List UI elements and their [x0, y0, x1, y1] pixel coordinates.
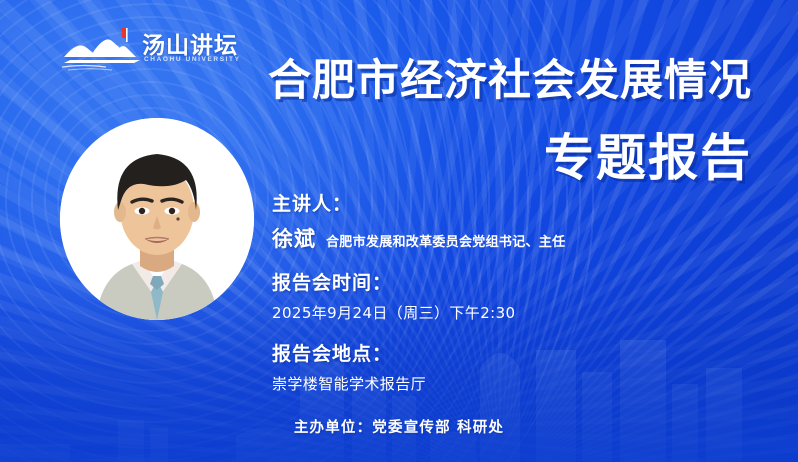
place-label: 报告会地点： — [272, 339, 742, 366]
time-label: 报告会时间： — [272, 268, 742, 295]
speaker-job-title: 合肥市发展和改革委员会党组书记、主任 — [326, 231, 565, 250]
speaker-portrait — [60, 118, 254, 320]
speaker-name: 徐斌 — [272, 223, 316, 253]
brand-logo: 汤山讲坛 CHAOHU UNIVERSITY — [60, 22, 235, 74]
poster-canvas: 汤山讲坛 CHAOHU UNIVERSITY — [0, 0, 798, 462]
speaker-label: 主讲人： — [272, 189, 742, 216]
speaker-row: 徐斌 合肥市发展和改革委员会党组书记、主任 — [272, 223, 742, 253]
place-value: 崇学楼智能学术报告厅 — [272, 373, 742, 394]
speaker-portrait-image — [60, 118, 254, 320]
logo-english-name: CHAOHU UNIVERSITY — [144, 56, 241, 63]
poster-title-line-1: 合肥市经济社会发展情况 — [268, 58, 752, 104]
event-info-block: 主讲人： 徐斌 合肥市发展和改革委员会党组书记、主任 报告会时间： 2025年9… — [272, 189, 742, 410]
poster-title-line-2: 专题报告 — [544, 131, 752, 185]
mountain-water-icon — [60, 24, 148, 72]
time-value: 2025年9月24日（周三）下午2:30 — [272, 302, 742, 323]
organizer-line: 主办单位：党委宣传部 科研处 — [0, 416, 798, 437]
logo-chinese-name: 汤山讲坛 — [142, 26, 238, 60]
